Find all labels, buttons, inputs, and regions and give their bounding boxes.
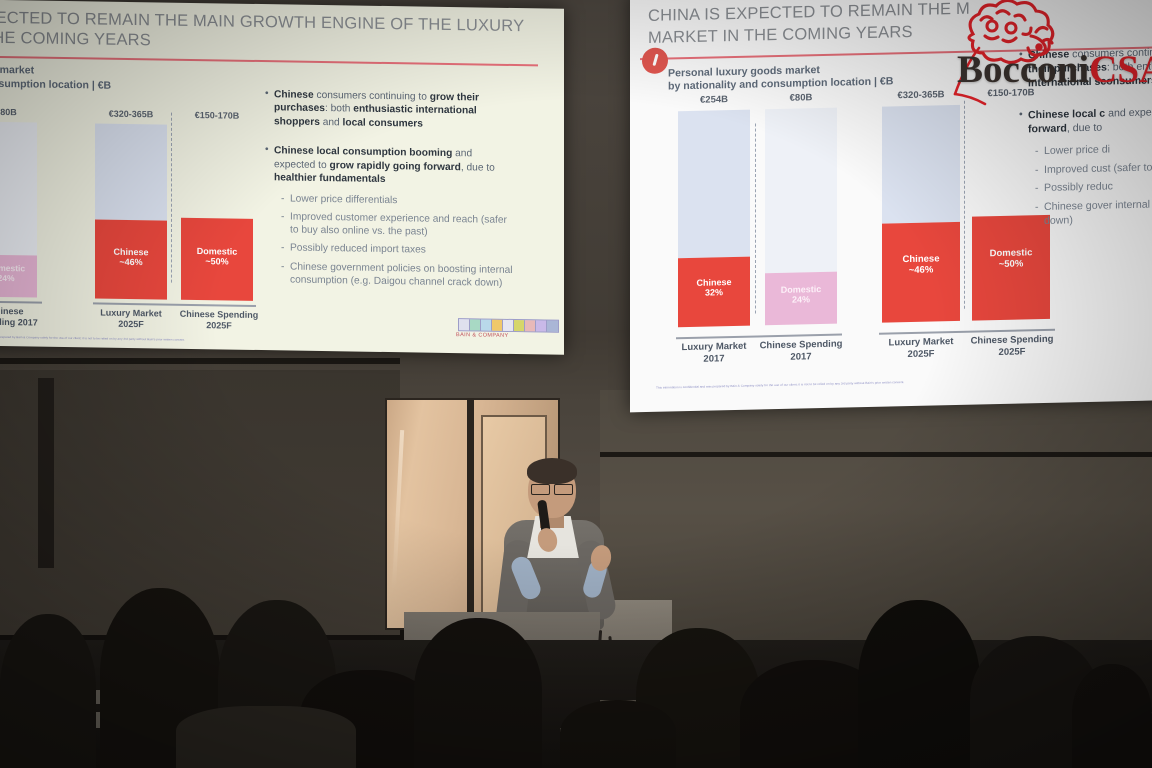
bar-3-connector (171, 113, 172, 283)
highlighter-icon[interactable] (492, 320, 503, 331)
bar-3-segment-chinese: Chinese ~46% (882, 222, 960, 323)
slide-left-disclaimer: This information is confidential and was… (0, 334, 504, 346)
x-label-3: Luxury Market 2025F (877, 336, 965, 362)
bar-1-segment-chinese: Chinese 32% (678, 257, 750, 328)
bar-3-segment-other (95, 123, 167, 220)
bar-2-label: Domestic 24% (765, 284, 837, 306)
wall-panel-left (0, 370, 400, 635)
bullet-item: Chinese local c and expected to forward,… (1028, 105, 1152, 229)
pen-icon[interactable] (470, 319, 481, 330)
bar-2-segment-domestic: Domestic 24% (0, 255, 37, 298)
sub-bullet-item: Improved cust (safer to buy a (1044, 159, 1152, 177)
sub-bullet-item: Lower price differentials (290, 192, 516, 209)
sub-bullet-item: Chinese gover internal consu crack down) (1044, 197, 1152, 229)
slide-left-subhead: ury goods market ty and consumption loca… (0, 63, 111, 93)
prev-icon[interactable] (536, 320, 547, 331)
bullet-rich-text: Chinese local consumption booming and ex… (274, 146, 495, 186)
sub-bullet-list: Lower price di Improved cust (safer to b… (1028, 141, 1152, 229)
sub-bullet-item: Possibly reduc (1044, 178, 1152, 196)
sub-bullet-list: Lower price differentials Improved custo… (274, 192, 516, 290)
slide-right-disclaimer: This information is confidential and was… (656, 374, 1152, 389)
wall-rail-left (0, 358, 400, 364)
projection-screen-left: S EXPECTED TO REMAIN THE MAIN GROWTH ENG… (0, 0, 564, 355)
wall-dark-strip (38, 378, 54, 568)
back-wall-right (600, 390, 1152, 650)
bar-luxury-market-2025f: €320-365B Chinese ~46% (882, 105, 960, 323)
lecture-hall-scene: S EXPECTED TO REMAIN THE MAIN GROWTH ENG… (0, 0, 1152, 768)
eraser-icon[interactable] (503, 320, 514, 331)
x-label-4: Chinese Spending 2025F (966, 334, 1058, 360)
door-divider (467, 398, 474, 630)
glasses-icon (530, 484, 574, 493)
slide-left: S EXPECTED TO REMAIN THE MAIN GROWTH ENG… (0, 0, 564, 355)
bar-1-segment-other (678, 110, 750, 259)
bar-value-2: €80B (0, 107, 37, 118)
logo-wordmark: BocconiCSA (957, 50, 1152, 89)
bar-2-segment-abroad (765, 108, 837, 274)
bar-value-3: €320-365B (95, 108, 167, 119)
bar-luxury-market-2017: €254B Chinese 32% (678, 110, 750, 328)
sub-bullet-item: Possibly reduced import taxes (290, 242, 516, 259)
logo-text-bocconi: Bocconi (957, 48, 1089, 91)
x-label-2: Chinese Spending 2017 (758, 338, 844, 364)
audience-head (1072, 664, 1152, 768)
audience-coat (176, 706, 356, 768)
bar-3-segment-chinese: Chinese ~46% (95, 219, 167, 299)
bar-chinese-spending-2025f: €150-170B Domestic ~50% (181, 125, 253, 301)
bullet-rich-text: Chinese local c and expected to forward,… (1028, 106, 1152, 135)
bullet-list-left: Chinese consumers continuing to grow the… (274, 88, 516, 298)
bar-value-1: €254B (678, 94, 750, 107)
bullet-rich-text: Chinese consumers continuing to grow the… (274, 89, 479, 129)
audience-head (858, 600, 980, 768)
bar-3-connector (964, 101, 965, 309)
bar-2-segment-abroad (0, 122, 37, 256)
sub-bullet-item: Improved customer experience and reach (… (290, 210, 516, 240)
x-label-2: Chinese Spending 2017 (0, 305, 44, 329)
sub-bullet-item: Lower price di (1044, 141, 1152, 159)
x-label-3: Luxury Market 2025F (90, 307, 172, 331)
red-circle-badge (642, 47, 668, 74)
wall-rail-upper-right (600, 452, 1152, 457)
chart-left: €254B Chinese 32% €80B Domestic 24% (0, 102, 262, 323)
sub-bullet-item: Chinese government policies on boosting … (290, 260, 516, 290)
bar-luxury-market-2025f: €320-365B Chinese ~46% (95, 123, 167, 299)
pointer-icon[interactable] (459, 319, 470, 330)
chart-axis-right-1 (676, 334, 842, 339)
bar-value-2: €80B (765, 92, 837, 105)
audience-head (560, 700, 676, 768)
chart-axis-left-2 (93, 302, 256, 306)
audience-head (0, 614, 96, 768)
bocconi-csa-logo: BocconiCSA (935, 0, 1152, 108)
bar-4-label: Domestic ~50% (181, 246, 253, 268)
bar-3-segment-other (882, 105, 960, 224)
ppt-ink-toolbar[interactable] (458, 318, 559, 333)
bar-3-label: Chinese ~46% (882, 254, 960, 278)
chart-axis-left-1 (0, 299, 42, 303)
bar-4-segment-domestic: Domestic ~50% (181, 218, 253, 301)
bar-4-label: Domestic ~50% (972, 248, 1050, 272)
bar-2-label: Domestic 24% (0, 264, 37, 285)
bar-2-segment-domestic: Domestic 24% (765, 272, 837, 326)
bullet-item: Chinese local consumption booming and ex… (274, 145, 516, 291)
chart-right: €254B Chinese 32% €80B Domestic 24% €320… (660, 90, 1080, 350)
slide-left-footer-brand: BAIN & COMPANY (456, 332, 509, 339)
bar-value-4: €150-170B (181, 110, 253, 121)
bar-chinese-spending-2017: €80B Domestic 24% (765, 108, 837, 326)
x-label-1: Luxury Market 2017 (672, 340, 756, 366)
slide-icon[interactable] (525, 320, 536, 331)
menu-icon[interactable] (547, 321, 558, 332)
logo-text-csa: CSA (1089, 48, 1152, 91)
ink-icon[interactable] (514, 320, 525, 331)
slide-left-title: S EXPECTED TO REMAIN THE MAIN GROWTH ENG… (0, 7, 546, 57)
bar-chinese-spending-2017: €80B Domestic 24% (0, 122, 37, 298)
bullet-item: Chinese consumers continuing to grow the… (274, 88, 516, 132)
x-label-4: Chinese Spending 2025F (176, 309, 262, 333)
marker-icon[interactable] (481, 320, 492, 331)
presenter-hair (527, 458, 577, 484)
bar-1-connector (755, 123, 756, 313)
bar-1-label: Chinese 32% (678, 277, 750, 299)
bar-3-label: Chinese ~46% (95, 246, 167, 268)
audience-head (414, 618, 542, 768)
